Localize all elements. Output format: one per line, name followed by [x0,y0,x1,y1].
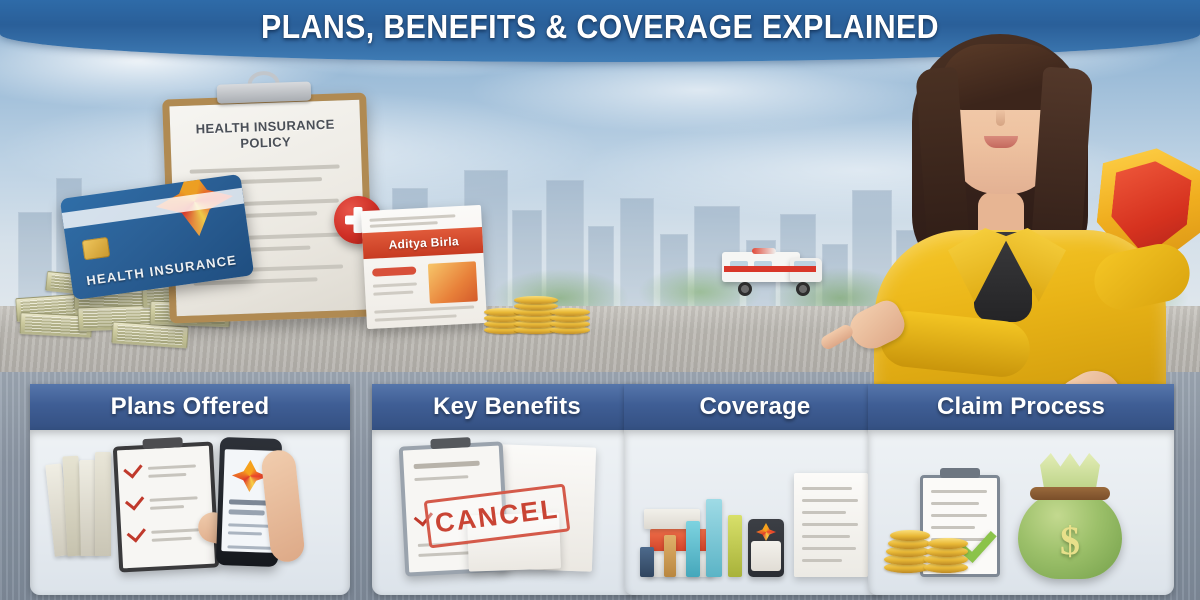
medicine-box-icon [646,551,714,577]
step-label-3: Coverage [700,393,811,421]
coin-stack-icon [884,517,976,573]
step-header-2[interactable]: Key Benefits [372,384,642,430]
pill-bottle-icon [664,535,676,577]
step-coverage[interactable]: Coverage [624,384,886,600]
clipboard-clamp-icon [217,81,312,103]
clipboard-checklist-icon [113,441,219,572]
syringe-icon [686,521,700,577]
step-header-4[interactable]: Claim Process [868,384,1174,430]
infographic-canvas: PLANS, BENEFITS & COVERAGE EXPLAINED HEA… [0,0,1200,600]
clipboard-title: HEALTH INSURANCE POLICY [170,116,361,155]
tube-icon [706,499,722,577]
brand-brochure: Aditya Birla [361,205,487,329]
step-header-1[interactable]: Plans Offered [30,384,350,430]
step-body-3 [624,430,886,595]
presenter-figure [836,16,1200,388]
step-claim-process[interactable]: Claim Process [868,384,1174,600]
card-chip-icon [82,237,111,260]
hero-illustration: HEALTH INSURANCE POLICY HEALTH INSURANCE… [0,0,1200,390]
nose [996,108,1005,126]
step-label-2: Key Benefits [433,393,581,421]
gold-coins-icon [484,272,594,334]
brochure-image [428,261,478,303]
step-label-1: Plans Offered [111,393,270,421]
dollar-symbol: $ [1018,517,1122,564]
money-bag-tie [1030,487,1110,500]
step-header-3[interactable]: Coverage [624,384,886,430]
step-key-benefits[interactable]: Key Benefits CANCEL [372,384,642,600]
pointing-finger-icon [819,322,855,351]
money-bag-icon: $ [1018,491,1122,579]
step-label-4: Claim Process [937,393,1105,421]
step-body-1 [30,430,350,595]
card-magnetic-stripe [62,188,244,229]
steps-row: Plans Offered [0,384,1200,600]
step-plans-offered[interactable]: Plans Offered [30,384,350,600]
books-icon [50,452,122,556]
step-body-4: $ [868,430,1174,595]
medicine-bottle-icon [748,519,784,577]
brand-band: Aditya Birla [361,226,487,259]
ambulance-icon [722,248,824,294]
brand-name: Aditya Birla [388,234,459,252]
medicine-box-orange-icon [650,529,710,551]
brochure-accent-pill [372,266,416,276]
checklist-document-icon [794,473,868,577]
step-body-2: CANCEL [372,430,642,595]
vial-icon [640,547,654,577]
cancel-stamp-text: CANCEL [433,493,560,539]
spray-icon [728,515,742,577]
